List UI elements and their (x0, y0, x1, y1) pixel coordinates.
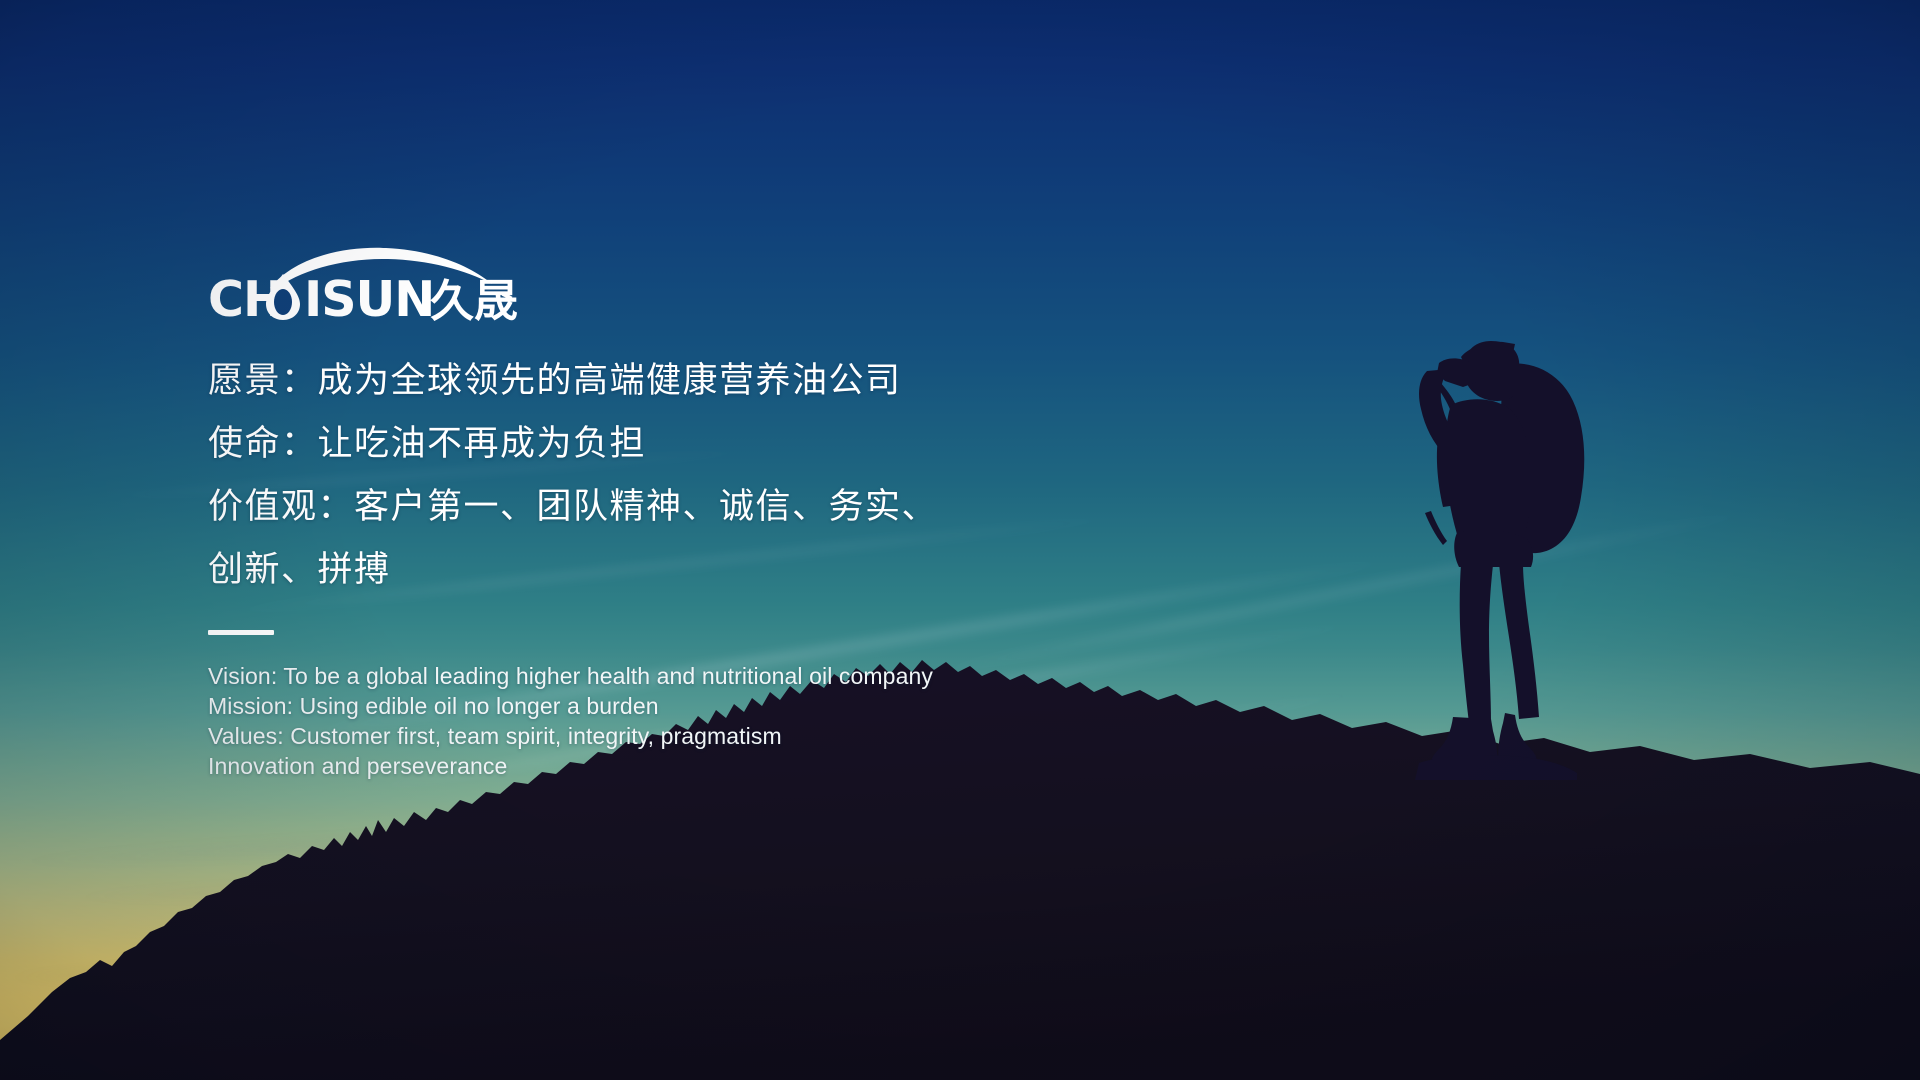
section-divider (208, 630, 274, 635)
choisun-logo-mark: CH ISUN 久晟 (208, 246, 553, 322)
choisun-logo[interactable]: CH ISUN 久晟 (208, 246, 553, 322)
slide-canvas: CH ISUN 久晟 愿景：成为全球领先的高端健康营养油公司 使命：让吃油不再成… (0, 0, 1920, 1080)
wordmark-text-2: ISUN (304, 271, 434, 322)
english-statement-block: Vision: To be a global leading higher he… (208, 661, 1208, 781)
hiker-silhouette (1395, 335, 1625, 780)
values-line-en-cont: Innovation and perseverance (208, 751, 1208, 781)
values-line-cn: 价值观：客户第一、团队精神、诚信、务实、 (208, 476, 1208, 539)
statement-content: CH ISUN 久晟 愿景：成为全球领先的高端健康营养油公司 使命：让吃油不再成… (208, 246, 1208, 781)
values-line-cn-cont: 创新、拼搏 (208, 539, 1208, 602)
chinese-statement-block: 愿景：成为全球领先的高端健康营养油公司 使命：让吃油不再成为负担 价值观：客户第… (208, 350, 1208, 602)
mission-line-en: Mission: Using edible oil no longer a bu… (208, 691, 1208, 721)
vision-line-cn: 愿景：成为全球领先的高端健康营养油公司 (208, 350, 1208, 413)
brand-chinese-name: 久晟 (430, 276, 518, 322)
mission-line-cn: 使命：让吃油不再成为负担 (208, 413, 1208, 476)
values-line-en: Values: Customer first, team spirit, int… (208, 721, 1208, 751)
vision-line-en: Vision: To be a global leading higher he… (208, 661, 1208, 691)
